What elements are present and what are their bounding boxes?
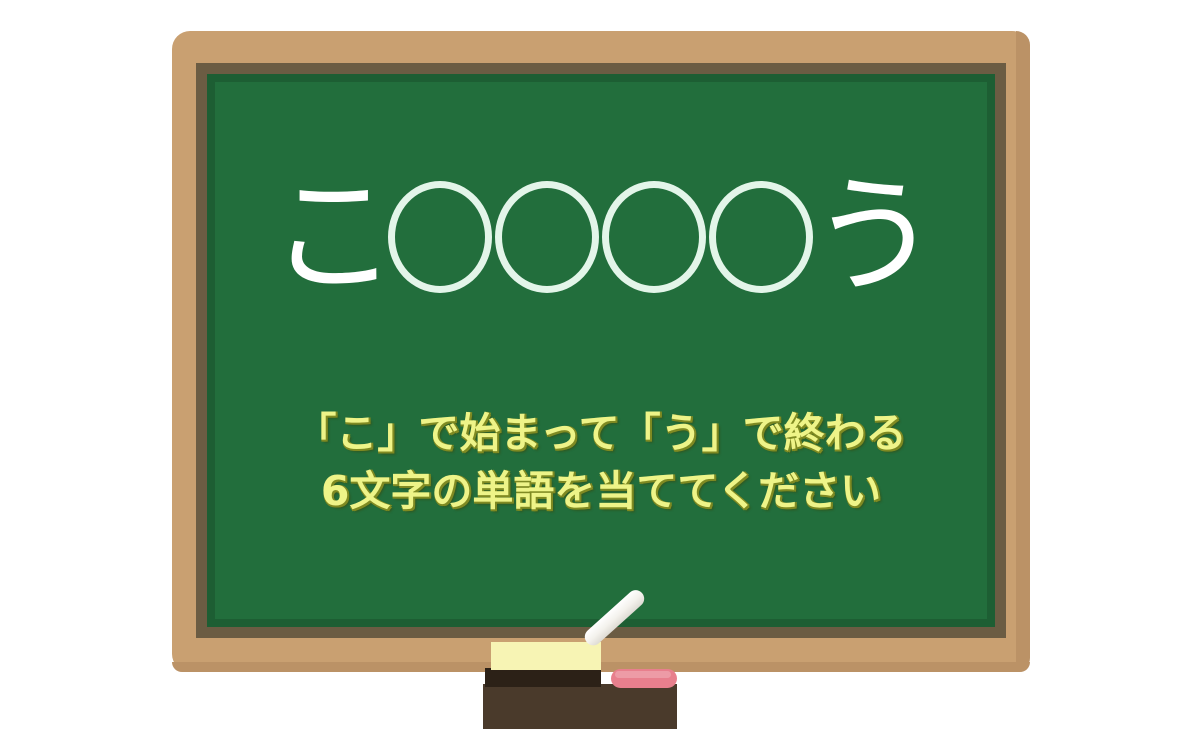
puzzle-start-kana: こ [270, 173, 392, 301]
circle-blank-icon [495, 181, 599, 293]
chalkboard-frame: こ う 「こ」で始まって「う」で終わる 6文字の単語を当ててください [172, 31, 1030, 672]
pink-chalk-highlight [615, 671, 671, 678]
circle-blank-icon [388, 181, 492, 293]
chalkboard-surface: こ う 「こ」で始まって「う」で終わる 6文字の単語を当ててください [207, 74, 995, 627]
hint-block: 「こ」で始まって「う」で終わる 6文字の単語を当ててください [207, 404, 995, 520]
circle-blank-icon [709, 181, 813, 293]
chalk-tray [483, 632, 683, 732]
eraser-icon [491, 642, 601, 670]
circle-blank-icon [602, 181, 706, 293]
chalkboard-surface-inset [207, 74, 995, 627]
puzzle-end-kana: う [811, 173, 933, 301]
white-chalk-icon [581, 587, 647, 649]
screenshot-stage: こ う 「こ」で始まって「う」で終わる 6文字の単語を当ててください [0, 0, 1200, 700]
chalkboard-inner-border: こ う 「こ」で始まって「う」で終わる 6文字の単語を当ててください [196, 63, 1006, 638]
eraser-felt [485, 668, 601, 687]
puzzle-blanks [388, 181, 813, 293]
hint-line-1: 「こ」で始まって「う」で終わる [207, 404, 995, 462]
puzzle-row: こ う [207, 162, 995, 312]
hint-line-2: 6文字の単語を当ててください [207, 462, 995, 520]
frame-shadow-right [1016, 31, 1030, 672]
chalk-tray-base [483, 684, 677, 729]
